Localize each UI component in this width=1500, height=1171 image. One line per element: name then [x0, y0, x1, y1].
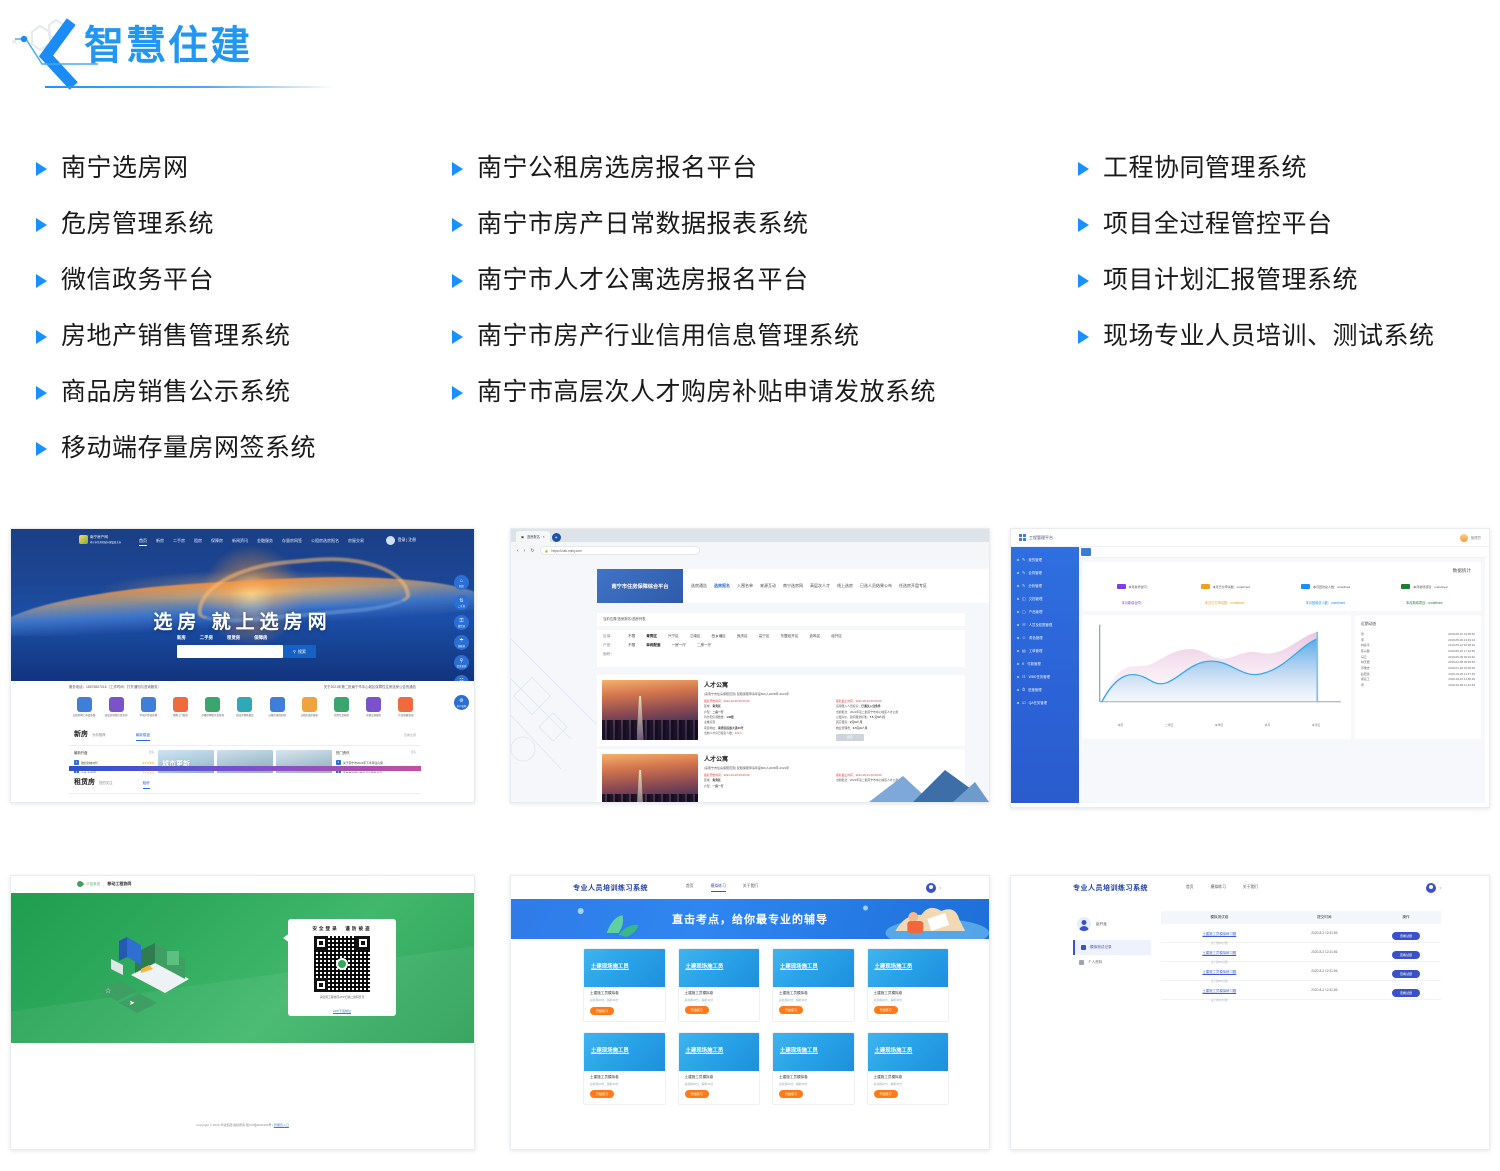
reload-icon[interactable]: ↻ — [530, 548, 534, 554]
table-row[interactable]: 土建施工员模拟练习题关于题/50分题 2020-8-3 12:31:56 查看试… — [1161, 981, 1441, 1000]
submit-time: 2020-8-3 12:31:56 — [1278, 950, 1371, 954]
filter-option[interactable]: 一房一厅 — [672, 643, 686, 648]
card-name: 土建施工员模拟卷 — [685, 1075, 754, 1080]
start-practice-button[interactable]: 开始练习 — [590, 1090, 614, 1098]
practice-card[interactable]: 土建现场施工员 土建施工员模拟卷总共题20分，解析30分开始练习 — [772, 948, 855, 1022]
system-link[interactable]: 危房管理系统 — [36, 196, 316, 252]
back-icon[interactable]: ‹ — [517, 548, 519, 554]
listing-col-right: 报名截止时间：2021-05-01 00:00:00 适用租入人员标识：已通过入… — [836, 699, 960, 741]
check-icon: ☑ — [1022, 700, 1026, 705]
hero-tab[interactable]: 新房 — [177, 635, 186, 641]
dashboard-tabstrip[interactable] — [1079, 547, 1485, 558]
platform-nav-item[interactable]: 入围名单 — [737, 583, 753, 589]
filter-option[interactable]: 不限 — [628, 634, 635, 639]
card-image: 土建现场施工员 — [773, 949, 854, 987]
stats-panel: 数据统计 本月新增合同： 本月已付申请数：undefined 本月回款总人数：u… — [1083, 562, 1481, 611]
qr-login-card: 安全登录 谨防被盗 请使用工程协同APP扫描二维码登录 APP下载地址 — [288, 919, 396, 1016]
dashboard-brand: 工程管理平台 — [1019, 534, 1053, 541]
stat-value: 本月已付申请数：undefined — [1205, 600, 1245, 605]
start-practice-button[interactable]: 开始练习 — [779, 1006, 803, 1014]
breadcrumb: 当前位置/选房报名/选房列表 — [597, 613, 965, 626]
quick-icon-item[interactable]: 公租房网上申请办理 — [69, 697, 99, 717]
training-nav-item[interactable]: 模拟练习 — [1211, 885, 1226, 890]
screenshot-housing-platform[interactable]: ▣ 选房报名 × + ‹ › ↻ 🔒 https://zufu.nnfcj.co… — [510, 528, 990, 803]
portal-nav-item[interactable]: 存量房网签 — [282, 538, 302, 546]
system-link-label: 现场专业人员培训、测试系统 — [1103, 320, 1435, 352]
list-more[interactable]: 更多 — [411, 750, 416, 755]
quick-icon-item[interactable]: 商品房预售备案 — [230, 697, 260, 717]
page-favicon: ▣ — [521, 535, 524, 539]
training-user[interactable]: ▾ — [926, 883, 941, 893]
card-image: 土建现场施工员 — [679, 949, 760, 987]
practice-card[interactable]: 土建现场施工员 土建施工员模拟卷总共题20分，解析30分开始练习 — [678, 1032, 761, 1105]
sidebar-item[interactable]: ☑QA任务管理 — [1011, 696, 1079, 709]
practice-card[interactable]: 土建现场施工员 土建施工员模拟卷总共题20分，解析30分开始练习 — [583, 1032, 666, 1105]
filter-option[interactable]: 武鸣区 — [809, 634, 820, 639]
filter-option[interactable]: 良庆区 — [737, 634, 748, 639]
browser-tabbar[interactable]: ▣ 选房报名 × + — [511, 529, 989, 542]
avatar — [1077, 917, 1091, 931]
filter-label: 面积： — [603, 652, 617, 657]
portal-nav-item[interactable]: 二手房 — [173, 538, 185, 546]
forward-icon[interactable]: › — [524, 548, 526, 554]
legend-swatch — [1117, 584, 1126, 589]
portal-rent-section: 租赁房 您的关注 租房 — [69, 773, 421, 794]
sidebar-item-records[interactable]: 模拟测试记录 — [1073, 940, 1151, 955]
sidebar-item[interactable]: ☵人员及权限管理 — [1011, 618, 1079, 631]
platform-nav-item-active[interactable]: 选房报名 — [714, 583, 730, 589]
login-footer: Copyright © 2019 华蓝集团 版权所有 桂ICP备2021153号… — [11, 1123, 474, 1127]
system-link[interactable]: 南宁选房网 — [36, 140, 316, 196]
paper-link[interactable]: 土建施工员模拟练习题 — [1202, 932, 1236, 936]
search-button-label: 搜索 — [298, 649, 306, 655]
triangle-right-icon — [452, 218, 463, 232]
section-tab[interactable]: 租房 — [143, 781, 150, 789]
training-nav[interactable]: 首页 模拟练习 关于我们 — [686, 884, 758, 892]
legend-swatch — [1201, 584, 1210, 589]
card-meta: 总共题20分，解析30分 — [874, 998, 943, 1002]
portal-hero-tabs[interactable]: 新房 二手房 租赁房 保障房 — [177, 635, 267, 641]
person-icon: ☺ — [1022, 635, 1026, 640]
system-link-label: 移动端存量房网签系统 — [61, 432, 316, 464]
portal-logo[interactable]: 南宁房产网 南宁市住房和城乡建设局主办 — [79, 535, 121, 544]
card-image-title: 土建现场施工员 — [591, 1046, 629, 1054]
new-tab-button[interactable]: + — [552, 533, 561, 542]
practice-card[interactable]: 土建现场施工员 土建施工员模拟卷总共题20分，解析30分开始练习 — [678, 948, 761, 1022]
filter-row-layout[interactable]: 户型： 不限 单间配套 一房一厅 二房一厅 — [603, 643, 959, 648]
card-image-title: 土建现场施工员 — [591, 962, 629, 970]
chevron-down-icon: ▾ — [1439, 886, 1441, 890]
app-download-link[interactable]: APP下载地址 — [333, 1009, 351, 1013]
sidebar-item[interactable]: ▢产品管理 — [1011, 605, 1079, 618]
card-image-title: 土建现场施工员 — [875, 962, 913, 970]
practice-card[interactable]: 土建现场施工员 土建施工员模拟卷总共题20分，解析30分开始练习 — [867, 948, 950, 1022]
practice-card[interactable]: 土建现场施工员 土建施工员模拟卷总共题20分，ุ解析30分开始练习 — [583, 948, 666, 1022]
list-title: 热门资讯 — [336, 750, 350, 755]
quick-icon-item[interactable]: 公租房选房报名 — [294, 697, 324, 717]
legend-item: 本月已付申请数：undefined — [1201, 584, 1250, 589]
card-image-title: 土建现场施工员 — [686, 962, 724, 970]
doc-icon: ◫ — [1022, 596, 1026, 601]
card-image: 土建现场施工员 — [868, 1033, 949, 1071]
system-link-label: 微信政务平台 — [61, 264, 214, 296]
system-link-label: 南宁选房网 — [61, 152, 189, 184]
float-btn[interactable]: ⇅二手房 — [454, 595, 469, 610]
triangle-right-icon — [1078, 274, 1089, 288]
admin-entry-link[interactable]: 管理员入口 — [274, 1123, 289, 1127]
quick-icon-item[interactable]: 存量房网签信息查询 — [198, 697, 228, 717]
training-logo[interactable]: 专业人员培训练习系统 — [573, 883, 648, 893]
svg-text:«: « — [12, 36, 17, 46]
portal-logo-icon — [79, 535, 88, 544]
screenshot-dashboard[interactable]: 工程管理平台 管理员 ✎我的管理 ✎合同管理 ✎分析管理 ◫文档管理 ▢产品管理… — [1010, 528, 1490, 808]
card-name: 土建施工员模拟卷 — [874, 1075, 943, 1080]
triangle-right-icon — [452, 162, 463, 176]
mountain-decoration — [869, 768, 989, 802]
practice-card[interactable]: 土建现场施工员 土建施工员模拟卷总共题20分，解析30分开始练习 — [867, 1032, 950, 1105]
company-brand: 华蓝集团 — [86, 882, 100, 887]
area-chart: 本周 二季度 本季度 本月 本年度 — [1083, 615, 1351, 739]
system-link[interactable]: 项目计划汇报管理系统 — [1078, 252, 1435, 308]
view-paper-button[interactable]: 查看试题 — [1392, 970, 1420, 978]
platform-nav-item[interactable]: 来源互动 — [760, 583, 776, 589]
card-name: 土建施工员模拟卷 — [779, 991, 848, 996]
listing-info: 人才公寓 (来南宁市住房保障范围) 配租保障申请年度800人2008年-2021… — [704, 680, 960, 741]
qr-code-image — [314, 936, 370, 992]
system-link[interactable]: 南宁市高层次人才购房补贴申请发放系统 — [452, 364, 936, 420]
quick-icon-item[interactable]: 商品房销售信息查询 — [101, 697, 131, 717]
legend-item: 本月新增合同： — [1117, 584, 1150, 589]
portal-logo-line1: 南宁房产网 — [90, 535, 108, 539]
screenshot-portal[interactable]: 南宁房产网 南宁市住房和城乡建设局主办 首页 新房 二手房 租房 保障房 新闻资… — [10, 528, 475, 803]
systems-column-2: 南宁公租房选房报名平台 南宁市房产日常数据报表系统 南宁市人才公寓选房报名平台 … — [452, 140, 936, 420]
dashboard-brand-label: 工程管理平台 — [1029, 535, 1053, 541]
platform-header: 南宁市住房保障综合平台 选房通告 选房报名 入围名单 来源互动 南宁选房网 高层… — [597, 569, 989, 603]
practice-card-grid: 土建现场施工员 土建施工员模拟卷总共题20分，ุ解析30分开始练习 土建现场施工… — [583, 948, 949, 1105]
dashboard-user-name: 管理员 — [1471, 535, 1481, 540]
login-register-link[interactable]: 登录 | 注册 — [398, 538, 416, 543]
portal-nav-item[interactable]: 首页 — [139, 538, 147, 546]
training-header: 专业人员培训练习系统 首页 模拟练习 关于我们 ▾ — [1011, 876, 1489, 899]
activity-log-title: 近期动态 — [1361, 622, 1475, 627]
browser-tab-title: 选房报名 — [527, 534, 540, 539]
quick-icon-item[interactable]: 限购上门服务 — [166, 697, 196, 717]
clock-icon: ⏱ — [1022, 687, 1025, 692]
dashboard-user[interactable]: 管理员 — [1460, 534, 1481, 542]
filter-option[interactable]: 青秀区 — [646, 634, 657, 639]
platform-nav-item[interactable]: 高层次人才 — [810, 583, 830, 589]
section-tab[interactable]: 最新楼盘 — [136, 733, 150, 741]
quick-icon — [398, 697, 413, 712]
grid-icon — [1019, 534, 1026, 541]
triangle-right-icon — [36, 386, 47, 400]
platform-nav-item[interactable]: 选房通告 — [691, 583, 707, 589]
filter-row-region[interactable]: 区域： 不限 青秀区 兴宁区 江南区 西乡塘区 良庆区 邕宁区 东盟经开区 武鸣… — [603, 634, 959, 639]
float-btn[interactable]: ⌂新房 — [454, 575, 469, 590]
system-link[interactable]: 商品房销售公示系统 — [36, 364, 316, 420]
training-logo[interactable]: 专业人员培训练习系统 — [1073, 883, 1148, 893]
section-header: 新房 为你推荐 最新楼盘 查看全部 — [69, 725, 421, 746]
sidebar-item[interactable]: ☺角色管理 — [1011, 631, 1079, 644]
systems-list: 南宁选房网 危房管理系统 微信政务平台 房地产销售管理系统 商品房销售公示系统 … — [0, 140, 1500, 500]
area-chart-svg — [1089, 623, 1345, 707]
quick-icon-item[interactable]: 住房保障查询 — [391, 697, 421, 717]
dashboard-main: 数据统计 本月新增合同： 本月已付申请数：undefined 本月回款总人数：u… — [1079, 547, 1485, 803]
filter-option[interactable]: 经开区 — [831, 634, 842, 639]
listing-title: 人才公寓 — [704, 754, 960, 763]
sidebar-item[interactable]: ✎合同管理 — [1011, 566, 1079, 579]
system-link[interactable]: 南宁市房产日常数据报表系统 — [452, 196, 936, 252]
training-user[interactable]: ▾ — [1426, 883, 1441, 893]
portal-nav-item[interactable]: 公租房选房报名 — [311, 538, 339, 546]
star-rating-icon: ★★★★★ — [142, 761, 154, 765]
filter-option[interactable]: 东盟经开区 — [780, 634, 798, 639]
card-meta: 总共题20分，解析30分 — [779, 1082, 848, 1086]
close-icon[interactable]: × — [543, 535, 545, 539]
listing-kv: 物业管理费：0.5元/m²·月 — [836, 726, 960, 731]
search-input[interactable] — [177, 645, 283, 658]
platform-nav-item[interactable]: 线上选房 — [837, 583, 853, 589]
quick-icon-item[interactable]: 不动产登记办理 — [133, 697, 163, 717]
address-bar[interactable]: 🔒 https://zufu.nnfcj.com — [540, 546, 700, 555]
system-link-label: 工程协同管理系统 — [1103, 152, 1307, 184]
system-link[interactable]: 移动端存量房网签系统 — [36, 420, 316, 476]
platform-nav-item[interactable]: 南宁选房网 — [783, 583, 803, 589]
pencil-icon: ✎ — [1022, 583, 1025, 588]
dashboard-sidebar[interactable]: ✎我的管理 ✎合同管理 ✎分析管理 ◫文档管理 ▢产品管理 ☵人员及权限管理 ☺… — [1011, 547, 1079, 803]
listing-photo — [602, 680, 698, 740]
column-header: 操作 — [1371, 915, 1441, 920]
filter-option[interactable]: 单间配套 — [646, 643, 660, 648]
section-more-link[interactable]: 查看全部 — [404, 733, 416, 737]
system-link-label: 南宁市房产日常数据报表系统 — [477, 208, 809, 240]
x-tick: 本季度 — [1215, 723, 1223, 727]
page-title: 智慧住建 — [84, 22, 252, 70]
filter-option[interactable]: 不限 — [628, 643, 635, 648]
platform-page: 南宁市住房保障综合平台 选房通告 选房报名 入围名单 来源互动 南宁选房网 高层… — [511, 559, 989, 802]
quick-icon-item[interactable]: 公租房申请办理 — [262, 697, 292, 717]
training-nav-item-active[interactable]: 模拟练习 — [711, 884, 726, 892]
sidebar-item-profile[interactable]: 个人资料 — [1073, 955, 1151, 970]
sidebar-item[interactable]: ☷WBS任务管理 — [1011, 670, 1079, 683]
card-meta: 总共题20分，解析30分 — [874, 1082, 943, 1086]
browser-tab[interactable]: ▣ 选房报名 × — [516, 531, 550, 542]
paper-link[interactable]: 土建施工员模拟练习题 — [1202, 989, 1236, 993]
screenshot-training-records[interactable]: 专业人员培训练习系统 首页 模拟练习 关于我们 ▾ 赵开龙 模拟测 — [1010, 875, 1490, 1150]
listing-title: 人才公寓 — [704, 680, 960, 689]
user-name: 赵开龙 — [1096, 922, 1107, 927]
sidebar-item[interactable]: ¥付款管理 — [1011, 657, 1079, 670]
start-practice-button[interactable]: 开始练习 — [685, 1090, 709, 1098]
stats-panel-title: 数据统计 — [1453, 568, 1471, 574]
platform-logo[interactable]: 南宁市住房保障综合平台 — [597, 569, 683, 603]
quick-icon-item[interactable]: 房屋交易服务 — [359, 697, 389, 717]
log-row: 周2019-04-09 11:42:54 — [1361, 683, 1475, 689]
sidebar-item[interactable]: ✎我的管理 — [1011, 553, 1079, 566]
system-link[interactable]: 现场专业人员培训、测试系统 — [1078, 308, 1435, 364]
legend-item: 本月新增项目：undefined — [1401, 584, 1447, 589]
search-icon: ⚲ — [293, 649, 296, 654]
hero-tab[interactable]: 二手房 — [200, 635, 213, 641]
records-body: 赵开龙 模拟测试记录 个人资料 模拟测试卷 提交时间 操作 土建施工员模拟练习题… — [1011, 899, 1489, 1149]
system-link-label: 南宁市高层次人才购房补贴申请发放系统 — [477, 376, 936, 408]
system-link[interactable]: 南宁市人才公寓选房报名平台 — [452, 252, 936, 308]
section-subtitle: 您的关注 — [99, 780, 113, 785]
system-link[interactable]: 微信政务平台 — [36, 252, 316, 308]
notice-text[interactable]: 关于2021年第二批南宁市中心城区保障性住房选房公告的通告 — [324, 685, 416, 690]
card-name: 土建施工员模拟卷 — [874, 991, 943, 996]
dashboard-tab[interactable] — [1081, 548, 1091, 556]
platform-nav[interactable]: 选房通告 选房报名 入围名单 来源互动 南宁选房网 高层次人才 线上选房 已选人… — [683, 583, 927, 589]
portal-quick-icons[interactable]: 公租房网上申请办理 商品房销售信息查询 不动产登记办理 限购上门服务 存量房网签… — [69, 697, 421, 717]
list-more[interactable]: 更多 — [149, 750, 154, 755]
x-tick: 本年度 — [1312, 723, 1320, 727]
quick-icon — [109, 697, 124, 712]
training-nav[interactable]: 首页 模拟练习 关于我们 — [1186, 885, 1258, 890]
section-title: 新房 — [74, 729, 88, 739]
filter-option[interactable]: 邕宁区 — [759, 634, 770, 639]
start-practice-button[interactable]: 开始练习 — [685, 1006, 709, 1014]
platform-nav-item[interactable]: 任选房开盘专区 — [899, 583, 927, 589]
dashboard-lower: 本周 二季度 本季度 本月 本年度 近期动态 张2019-08-02 13:05… — [1083, 615, 1481, 739]
login-header: 华蓝集团 | 移动工程协同 — [11, 876, 474, 892]
paper-link[interactable]: 土建施工员模拟练习题 — [1202, 970, 1236, 974]
pencil-icon: ✎ — [1022, 570, 1025, 575]
filter-option[interactable]: 兴宁区 — [668, 634, 679, 639]
hero-tab[interactable]: 租赁房 — [227, 635, 240, 641]
filter-row-area[interactable]: 面积： — [603, 652, 959, 657]
view-paper-button[interactable]: 查看试题 — [1392, 932, 1420, 940]
person-icon — [1079, 960, 1084, 965]
chevron-down-icon: ▾ — [939, 886, 941, 890]
portal-nav-item[interactable]: 新房 — [156, 538, 164, 546]
portal-color-divider — [69, 766, 421, 771]
filter-option[interactable]: 江南区 — [690, 634, 701, 639]
system-link[interactable]: 南宁公租房选房报名平台 — [452, 140, 936, 196]
records-table: 模拟测试卷 提交时间 操作 土建施工员模拟练习题关于题/50分题 2020-8-… — [1161, 911, 1441, 1149]
triangle-right-icon — [36, 218, 47, 232]
qr-tip: 请使用工程协同APP扫描二维码登录 — [288, 995, 396, 999]
listing-col-left: 报名开始时间：2021-04-26 09:00:00 区域：青秀区 户型：二房一… — [704, 699, 828, 741]
legend-swatch — [1301, 584, 1310, 589]
stat-value: 本月新增项目：undefined — [1406, 600, 1442, 605]
training-nav-item[interactable]: 首页 — [686, 884, 694, 892]
dashboard-topbar: 工程管理平台 管理员 — [1011, 529, 1489, 547]
quick-icon — [366, 697, 381, 712]
training-nav-item[interactable]: 关于我们 — [1243, 885, 1258, 890]
start-practice-button[interactable]: 开始练习 — [779, 1090, 803, 1098]
card-image: 土建现场施工员 — [868, 949, 949, 987]
listing-kv: 当前人才房已报名人数：121人 — [704, 731, 828, 736]
quick-icon — [237, 697, 252, 712]
system-link[interactable]: 工程协同管理系统 — [1078, 140, 1435, 196]
portal-user-area[interactable]: 登录 | 注册 — [386, 536, 416, 545]
banner-title: 直击考点，给你最专业的辅导 — [672, 911, 828, 927]
card-image: 土建现场施工员 — [584, 949, 665, 987]
portal-nav[interactable]: 首页 新房 二手房 租房 保障房 新闻资讯 金融服务 存量房网签 公租房选房报名… — [139, 538, 364, 546]
training-nav-item[interactable]: 关于我们 — [743, 884, 758, 892]
platform-nav-item[interactable]: 已选人员结果公布 — [860, 583, 892, 589]
system-link[interactable]: 房地产销售管理系统 — [36, 308, 316, 364]
training-nav-item[interactable]: 首页 — [1186, 885, 1194, 890]
notice-phone: 服务电话：18575607016（工作时间：打开通知与咨询服务） — [69, 685, 161, 690]
quick-icon-item[interactable]: 信用信息档案 — [327, 697, 357, 717]
float-btn[interactable]: ⚲信息查询 — [454, 655, 469, 670]
listing-card[interactable]: 人才公寓 (来南宁市住房保障范围) 配租保障申请年度800人2008年-2021… — [597, 675, 965, 746]
user-profile: 赵开龙 — [1073, 911, 1151, 940]
start-practice-button[interactable]: 开始练习 — [874, 1006, 898, 1014]
float-btn[interactable]: ⚙中介机构 — [454, 695, 469, 710]
screenshot-mobile-coordination-login[interactable]: 华蓝集团 | 移动工程协同 — [10, 875, 475, 1150]
portal-nav-item[interactable]: 保障房 — [211, 538, 223, 546]
start-practice-button[interactable]: 开始练习 — [874, 1090, 898, 1098]
quick-icon — [205, 697, 220, 712]
float-btn[interactable]: ⚿租赁房 — [454, 615, 469, 630]
card-meta: 总共题20分，解析30分 — [590, 1082, 659, 1086]
sidebar-item[interactable]: ✎分析管理 — [1011, 579, 1079, 592]
paper-sub: 关于题/50分题 — [1161, 998, 1278, 1002]
filter-option[interactable]: 西乡塘区 — [712, 634, 726, 639]
stat-value: 本月回款总人数：undefined — [1306, 600, 1346, 605]
view-paper-button[interactable]: 查看试题 — [1392, 989, 1420, 997]
svg-text:☆: ☆ — [105, 987, 111, 995]
system-link[interactable]: 南宁市房产行业信用信息管理系统 — [452, 308, 936, 364]
listing-col-left: 报名开始时间：2021-04-26 09:00:00 区域：青秀区 户型：一房一… — [704, 773, 828, 789]
practice-card[interactable]: 土建现场施工员 土建施工员模拟卷总共题20分，解析30分开始练习 — [772, 1032, 855, 1105]
filter-option[interactable]: 二房一厅 — [697, 643, 711, 648]
hero-tab[interactable]: 保障房 — [254, 635, 267, 641]
start-practice-button[interactable]: 开始练习 — [590, 1007, 614, 1015]
search-button[interactable]: ⚲ 搜索 — [283, 645, 316, 658]
quick-icon — [141, 697, 156, 712]
browser-urlbar: ‹ › ↻ 🔒 https://zufu.nnfcj.com — [511, 542, 989, 559]
city-skyline-graphic — [602, 794, 698, 802]
system-link[interactable]: 项目全过程管控平台 — [1078, 196, 1435, 252]
card-name: 土建施工员模拟卷 — [779, 1075, 848, 1080]
sidebar-item[interactable]: ▤工单管理 — [1011, 644, 1079, 657]
system-link-label: 南宁公租房选房报名平台 — [477, 152, 758, 184]
triangle-right-icon — [452, 330, 463, 344]
money-icon: ¥ — [1022, 661, 1024, 666]
copyright-text: Copyright © 2019 华蓝集团 版权所有 桂ICP备2021153号… — [196, 1123, 274, 1127]
listing-kv: 户型：一房一厅 — [704, 784, 828, 789]
activity-log-panel: 近期动态 张2019-08-02 13:05:32 李2019-05-06 13… — [1355, 615, 1481, 739]
portal-nav-item[interactable]: 新闻资讯 — [232, 538, 248, 546]
quick-icon — [302, 697, 317, 712]
float-btn[interactable]: ☂保障房 — [454, 635, 469, 650]
ticket-icon: ▤ — [1022, 648, 1026, 653]
view-paper-button[interactable]: 查看试题 — [1392, 951, 1420, 959]
address-bar-value: https://zufu.nnfcj.com — [552, 549, 582, 553]
screenshot-training-home[interactable]: 专业人员培训练习系统 首页 模拟练习 关于我们 ▾ — [510, 875, 990, 1150]
sidebar-item[interactable]: ◫文档管理 — [1011, 592, 1079, 605]
column-header: 模拟测试卷 — [1161, 915, 1278, 920]
paper-link[interactable]: 土建施工员模拟练习题 — [1202, 951, 1236, 955]
records-sidebar[interactable]: 赵开龙 模拟测试记录 个人资料 — [1073, 911, 1151, 1149]
filter-panel[interactable]: 区域： 不限 青秀区 兴宁区 江南区 西乡塘区 良庆区 邕宁区 东盟经开区 武鸣… — [597, 630, 965, 667]
portal-nav-item[interactable]: 房屋交易 — [348, 538, 364, 546]
leaf-logo-icon — [76, 880, 84, 888]
sidebar-item[interactable]: ⏱进度管理 — [1011, 683, 1079, 696]
stat-value: 本月新增合同： — [1122, 600, 1144, 605]
apply-button[interactable]: 报名 — [836, 734, 864, 741]
filter-label: 区域： — [603, 634, 617, 639]
portal-nav-item[interactable]: 金融服务 — [257, 538, 273, 546]
portal-search[interactable]: ⚲ 搜索 — [177, 645, 316, 658]
system-name: 移动工程协同 — [107, 881, 131, 887]
laptop-illustration: ☆ ➤ — [97, 929, 215, 1015]
portal-nav-item[interactable]: 租房 — [194, 538, 202, 546]
